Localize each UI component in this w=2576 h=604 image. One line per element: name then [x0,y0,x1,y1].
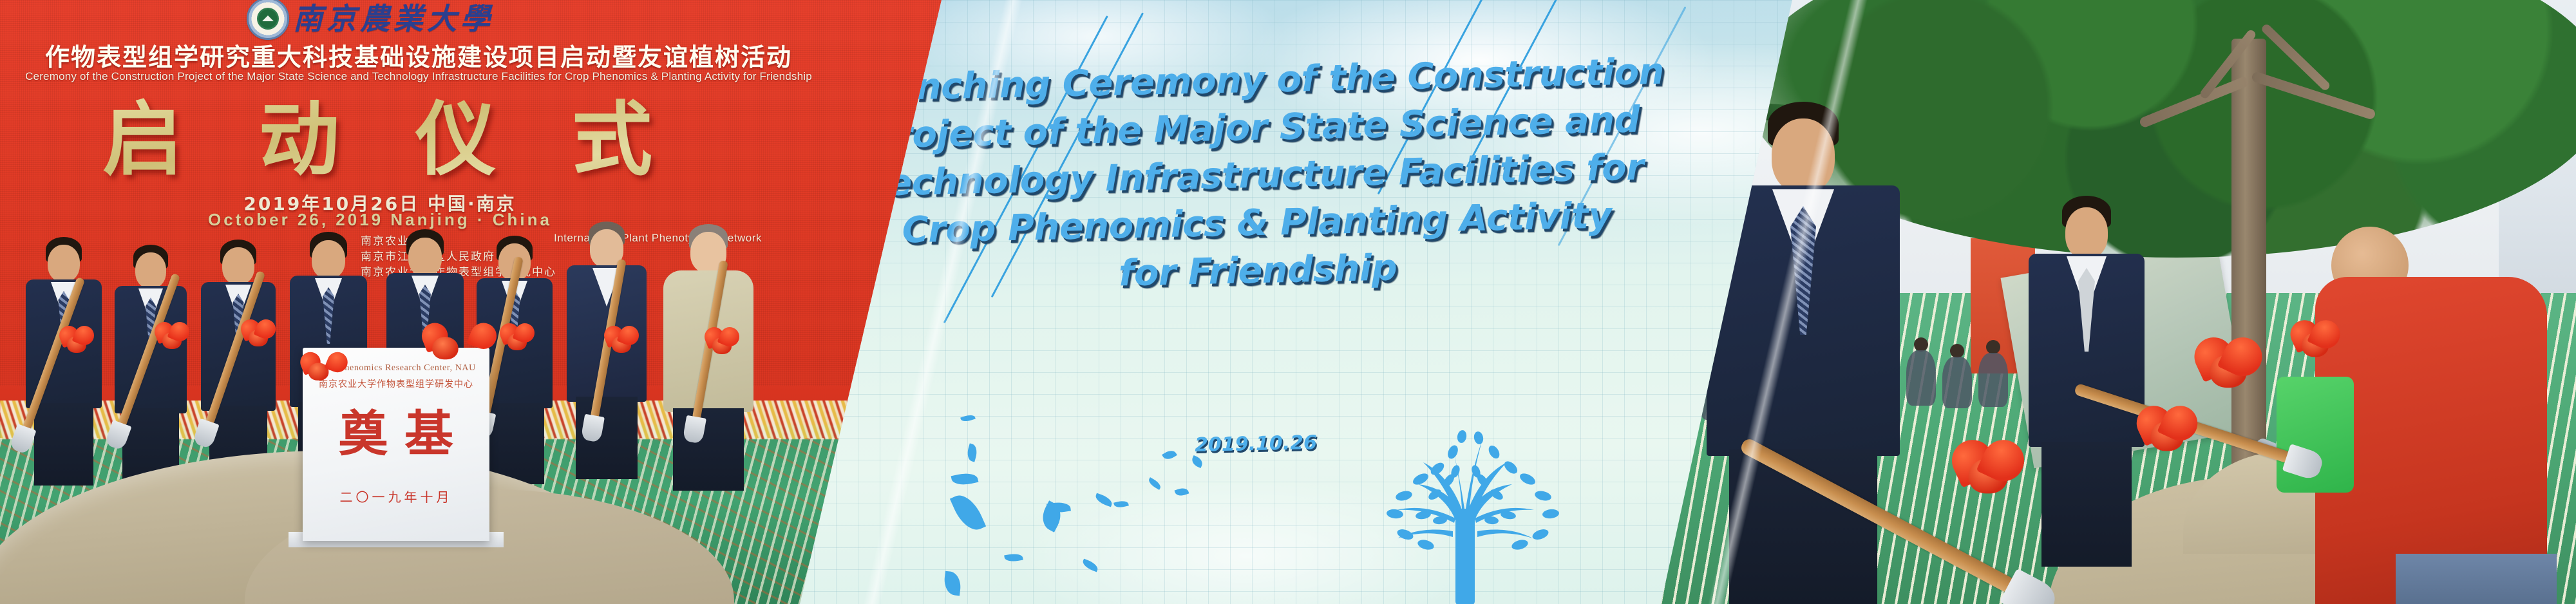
ceremony-title: Launching Ceremony of the Construction P… [815,48,1696,304]
composite-banner: 南京農業大學 作物表型组学研究重大科技基础设施建设项目启动暨友谊植树活动 Cer… [0,0,2576,604]
trousers [673,408,744,491]
red-ribbon-bow [241,319,276,348]
head [135,252,166,288]
banner-big-characters: 启动仪式 [0,97,831,184]
tree-trunk-ribbon [2291,320,2340,360]
jeans [2396,554,2557,604]
crowd-head [1950,344,1964,358]
center-title-panel: Launching Ceremony of the Construction P… [792,0,1803,604]
plaque-big-characters: 奠基 [303,407,489,461]
red-ribbon-bow [59,326,94,354]
trousers [34,403,93,486]
right-photo-panel [1649,0,2576,604]
red-ribbon-bow [300,352,348,388]
head [48,245,80,282]
crowd-head [1914,337,1928,352]
tree-trunk-ribbon [2195,337,2262,392]
crowd-head [1986,340,2000,354]
red-ribbon-bow [705,327,739,355]
red-ribbon-bow [500,323,535,352]
head [408,238,442,276]
head [2065,207,2108,259]
head [312,240,345,279]
plaque-date: 二〇一九年十月 [303,487,489,505]
banner-headline-cn: 作物表型组学研究重大科技基础设施建设项目启动暨友谊植树活动 [0,44,876,71]
head [1772,118,1835,193]
red-ribbon-bow [1952,440,2024,498]
red-ribbon-bow [2137,406,2198,455]
trousers [2041,442,2132,567]
seal-emblem [257,8,279,30]
official-planting [2029,127,2145,565]
left-photo-panel: 南京農業大學 作物表型组学研究重大科技基础设施建设项目启动暨友谊植树活动 Cer… [0,0,966,604]
university-name-cn: 南京農業大學 [293,3,494,36]
crowd-figure [1942,357,1972,408]
tree-icon [1359,412,1571,604]
crowd-figure [1906,350,1936,406]
dignitary [26,237,102,482]
red-ribbon-bow [604,326,639,354]
crowd-figure [1978,353,2008,407]
red-ribbon-bow [155,322,189,350]
banner-headline-en: Ceremony of the Construction Project of … [0,70,876,84]
red-ribbon-bow [422,323,497,375]
head [222,247,254,285]
